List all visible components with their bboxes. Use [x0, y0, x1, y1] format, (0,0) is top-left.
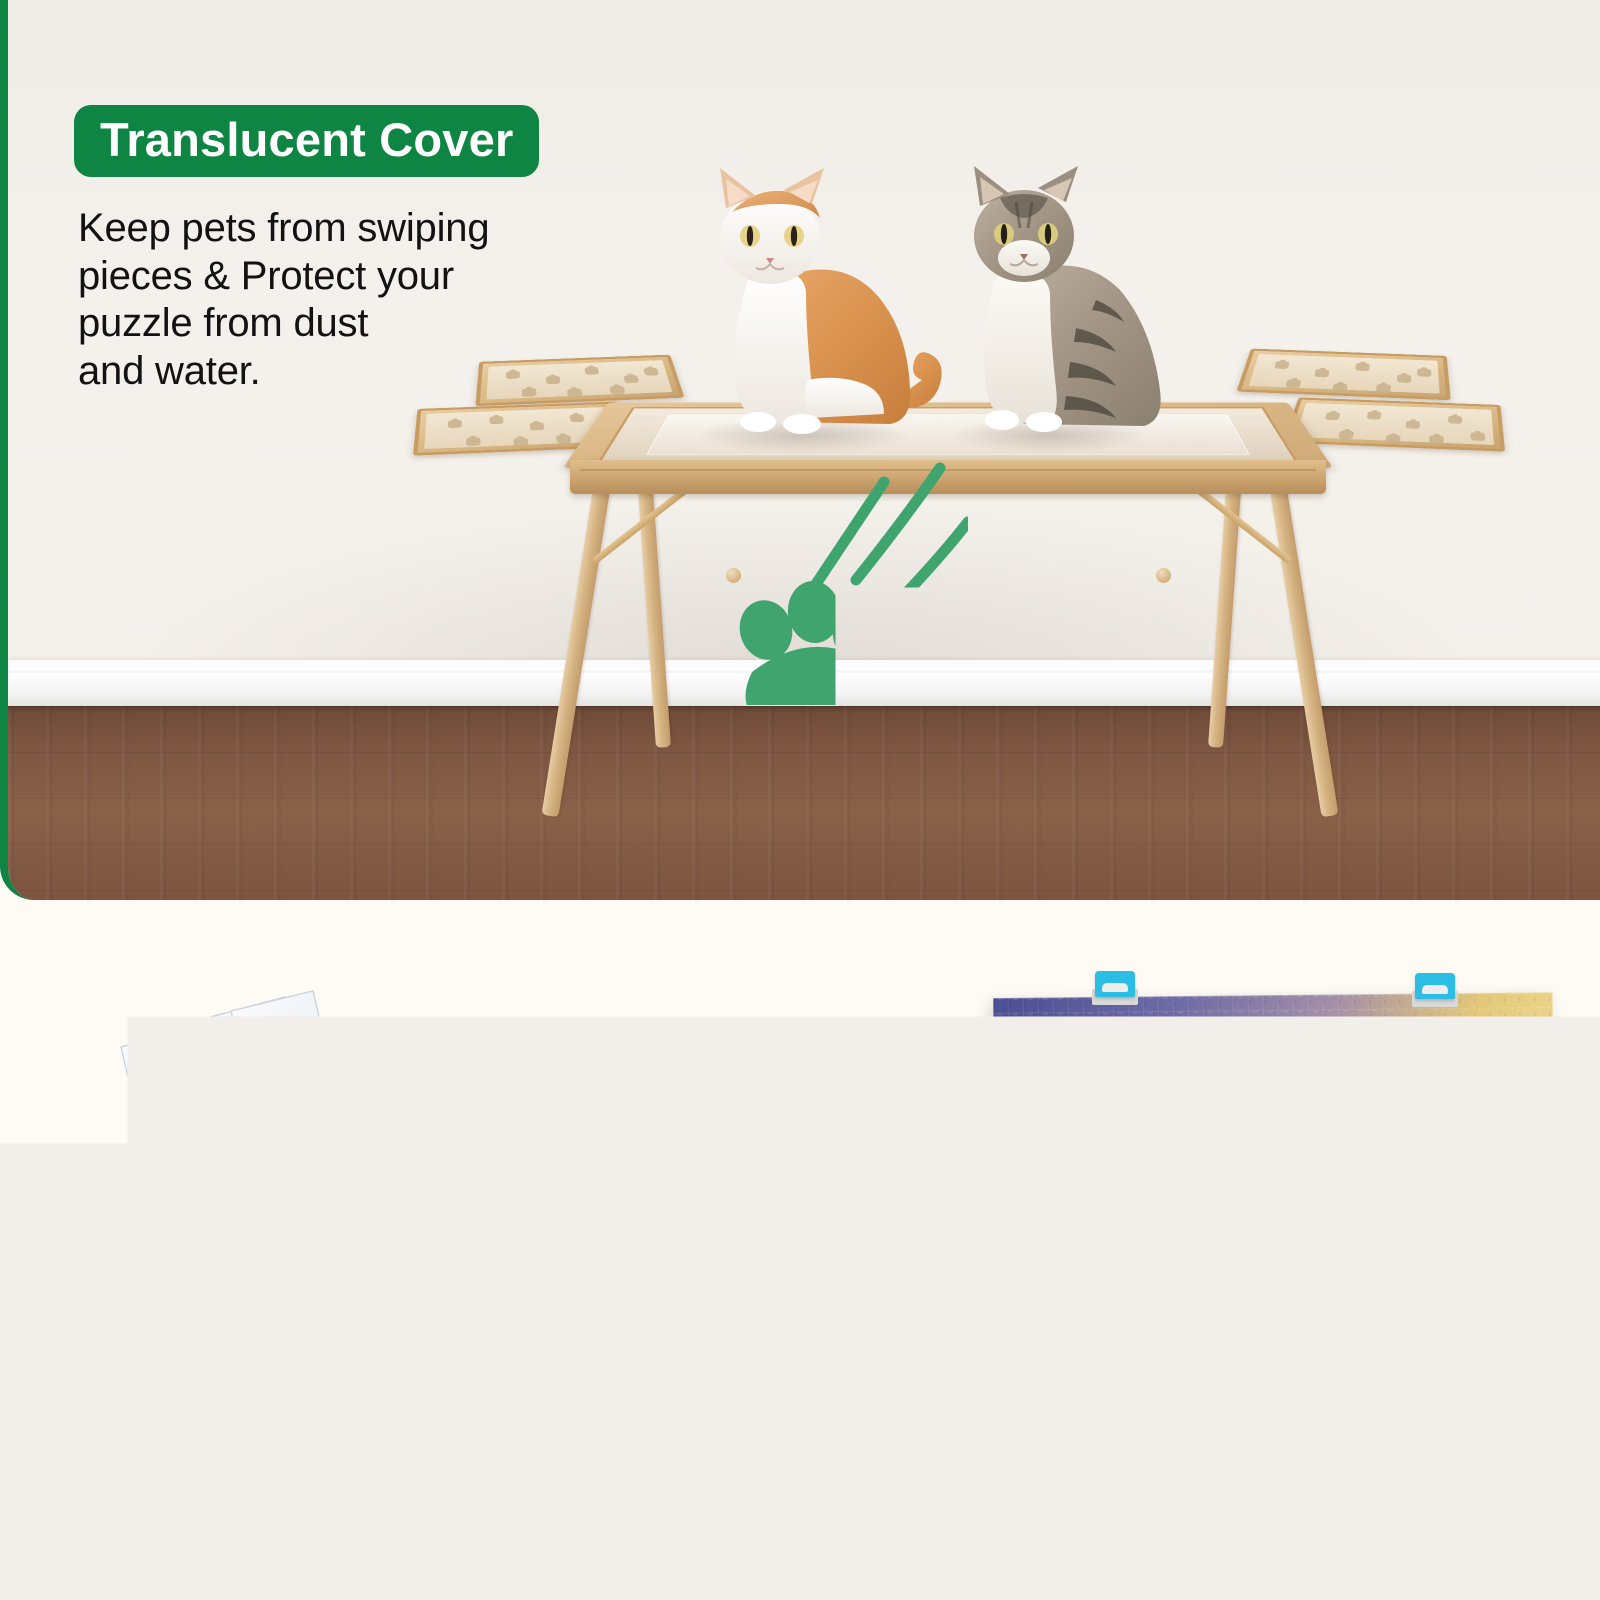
drawer-tray [486, 360, 672, 399]
hanging-tab-on-puzzle-right [1415, 973, 1455, 999]
glue-sheets-badge-label: 10 Glues Sheet [78, 1291, 365, 1347]
description-line-1: Keep pets from swiping [78, 205, 489, 253]
hanging-puzzle-scene [740, 965, 1600, 1600]
hanging-tab [559, 1042, 613, 1102]
drawer-tray [1249, 354, 1440, 394]
table-leg-front-right [1270, 489, 1338, 818]
product-infographic: Translucent Cover Keep pets from swiping… [0, 0, 1600, 1600]
leg-knob-right [1156, 568, 1171, 583]
hanging-tab [499, 1042, 553, 1102]
description-line-4: and water. [78, 348, 489, 396]
section-heading-badge: Translucent Cover [74, 105, 539, 177]
grey-tabby-cat [946, 158, 1196, 454]
bottom-caption: Hanging complete puzzles easily! [65, 1466, 694, 1515]
woman-figure [1295, 1135, 1600, 1600]
drawer-tray [1295, 403, 1494, 445]
hanging-tabs-badge-label: 4 Hanging Tabs [409, 1291, 698, 1347]
description-line-3: puzzle from dust [78, 300, 489, 348]
hanging-tabs-badge: 4 Hanging Tabs [409, 1291, 698, 1347]
hanging-tab [499, 1114, 553, 1174]
glue-sheets-badge: 10 Glues Sheet [78, 1291, 365, 1347]
table-leg-back-left [638, 489, 671, 747]
drawer-right-upper[interactable] [1236, 349, 1450, 401]
orange-white-cat [690, 162, 950, 452]
translucent-cover-panel: Translucent Cover Keep pets from swiping… [0, 0, 1600, 900]
table-leg-front-left [541, 489, 609, 818]
man-figure [740, 1035, 1070, 1600]
feature-description: Keep pets from swiping pieces & Protect … [78, 205, 489, 395]
heading-badge-label: Translucent Cover [74, 105, 539, 177]
hanging-tabs-group [497, 1038, 617, 1183]
paw-print-icon [708, 460, 968, 705]
table-leg-back-right [1208, 489, 1241, 747]
glue-sheets-stack [95, 985, 385, 1260]
hanging-tab [559, 1114, 613, 1174]
drawer-left-upper[interactable] [475, 355, 684, 406]
hanging-tab-on-puzzle-left [1095, 971, 1135, 997]
description-line-2: pieces & Protect your [78, 253, 489, 301]
